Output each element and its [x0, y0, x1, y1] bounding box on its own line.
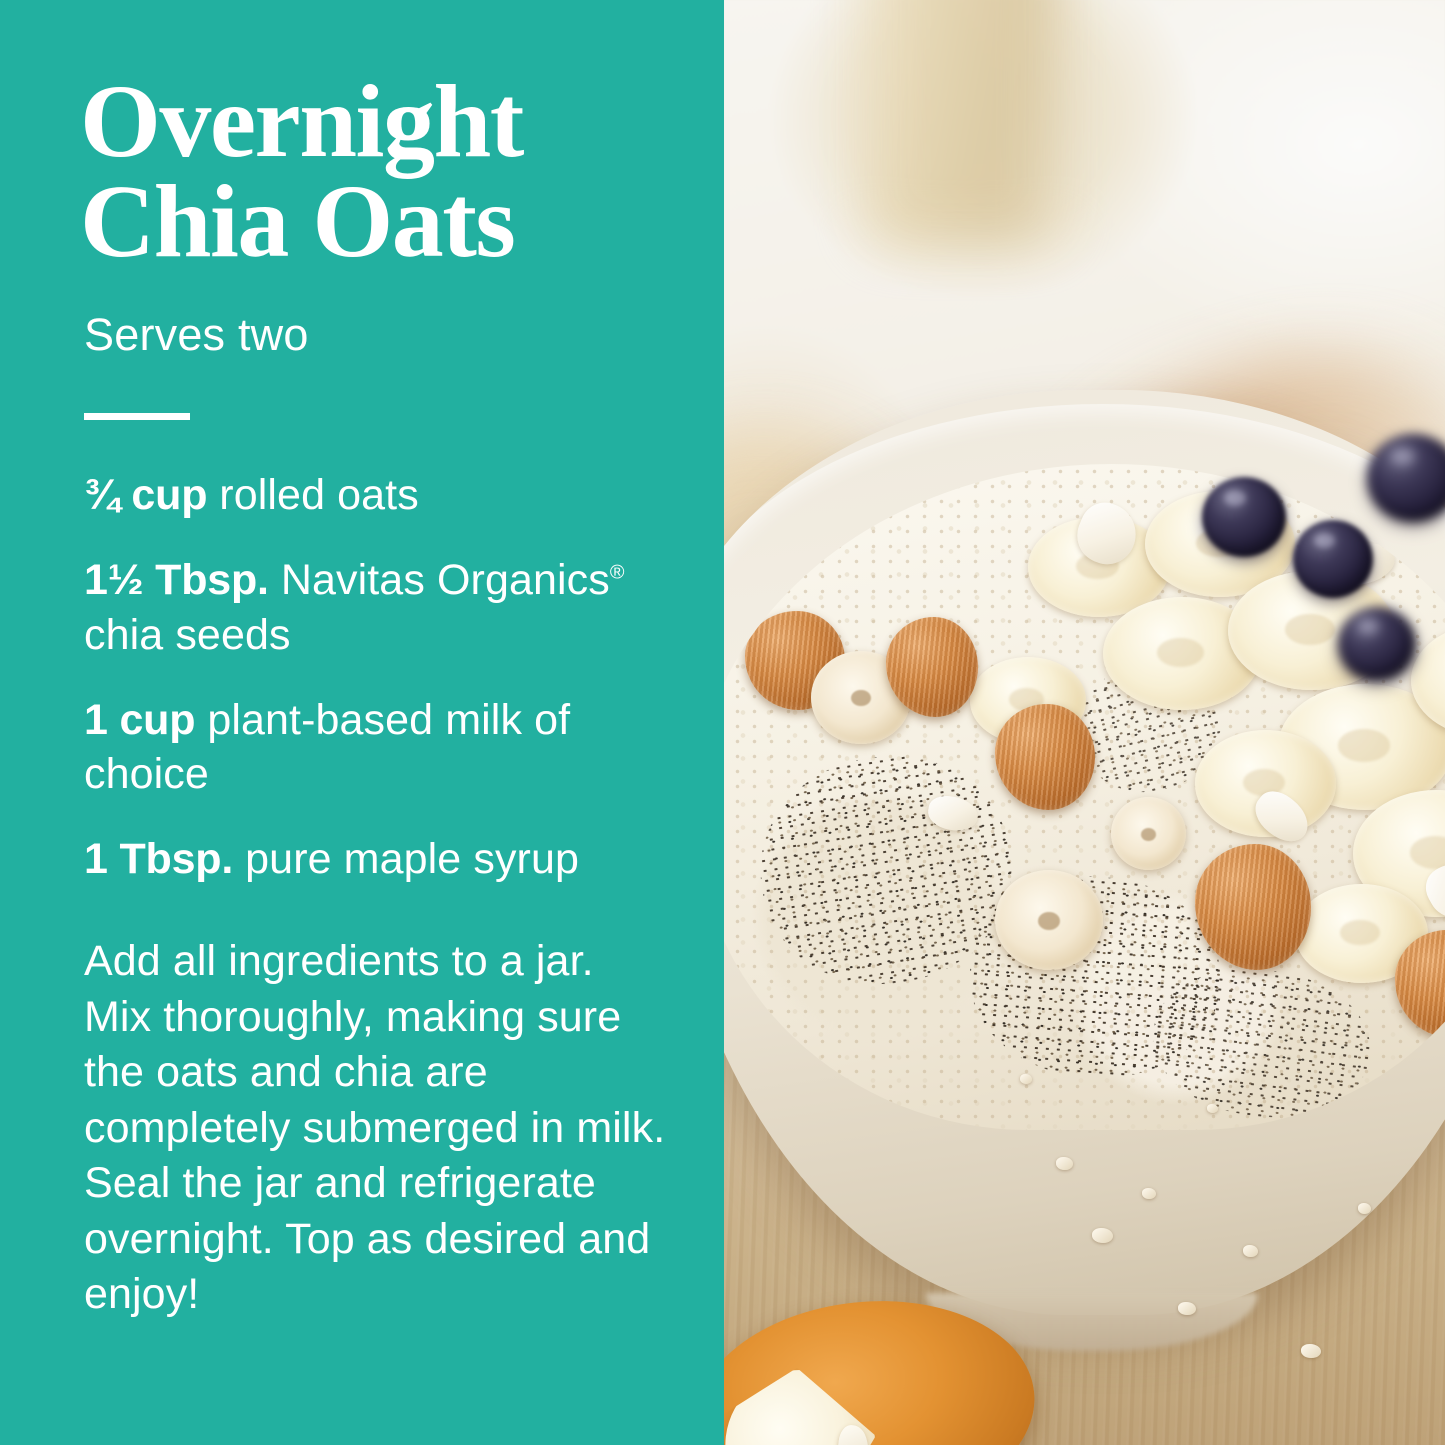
recipe-text-panel: Overnight Chia Oats Serves two ¾ cup rol…: [0, 0, 724, 1445]
oat-crumb: [1092, 1228, 1113, 1243]
list-item: 1½ Tbsp. Navitas Organics® chia seeds: [84, 553, 668, 661]
oat-crumb: [1207, 1104, 1218, 1113]
ingredient-amount: ¾ cup: [84, 471, 207, 519]
oat-crumb: [1358, 1203, 1371, 1214]
blueberry: [1367, 434, 1445, 522]
ingredient-text: rolled oats: [207, 471, 419, 519]
page-title: Overnight Chia Oats: [80, 72, 668, 272]
blueberry: [1338, 607, 1416, 681]
recipe-card: Overnight Chia Oats Serves two ¾ cup rol…: [0, 0, 1445, 1445]
ingredient-text: pure maple syrup: [233, 835, 579, 883]
oat-crumb: [1243, 1245, 1258, 1257]
serves-label: Serves two: [84, 310, 668, 360]
ingredients-list: ¾ cup rolled oats 1½ Tbsp. Navitas Organ…: [84, 468, 668, 886]
recipe-photo: [724, 0, 1445, 1445]
oat-crumb: [1020, 1074, 1032, 1084]
ingredient-amount: 1 Tbsp.: [84, 835, 233, 883]
milk-glass: [868, 0, 1058, 243]
list-item: 1 Tbsp. pure maple syrup: [84, 832, 668, 886]
instructions-paragraph: Add all ingredients to a jar. Mix thorou…: [84, 934, 668, 1322]
hazelnut-halved: [995, 870, 1103, 970]
blueberry: [1293, 520, 1373, 598]
oat-crumb: [1056, 1157, 1073, 1170]
oat-crumb: [1178, 1302, 1196, 1315]
ingredient-text-after: chia seeds: [84, 611, 291, 659]
registered-trademark-symbol: ®: [610, 562, 625, 584]
title-line-1: Overnight: [80, 72, 668, 172]
oat-crumb: [1301, 1344, 1321, 1358]
blueberry: [1202, 477, 1286, 557]
ingredient-text: Navitas Organics: [269, 556, 610, 604]
title-line-2: Chia Oats: [80, 172, 668, 272]
banana-slice-on-spoon: [724, 1352, 893, 1445]
list-item: 1 cup plant-based milk of choice: [84, 693, 668, 801]
list-item: ¾ cup rolled oats: [84, 468, 668, 522]
section-divider: [84, 413, 190, 420]
ingredient-amount: 1 cup: [84, 696, 195, 744]
ingredient-amount: 1½ Tbsp.: [84, 556, 269, 604]
